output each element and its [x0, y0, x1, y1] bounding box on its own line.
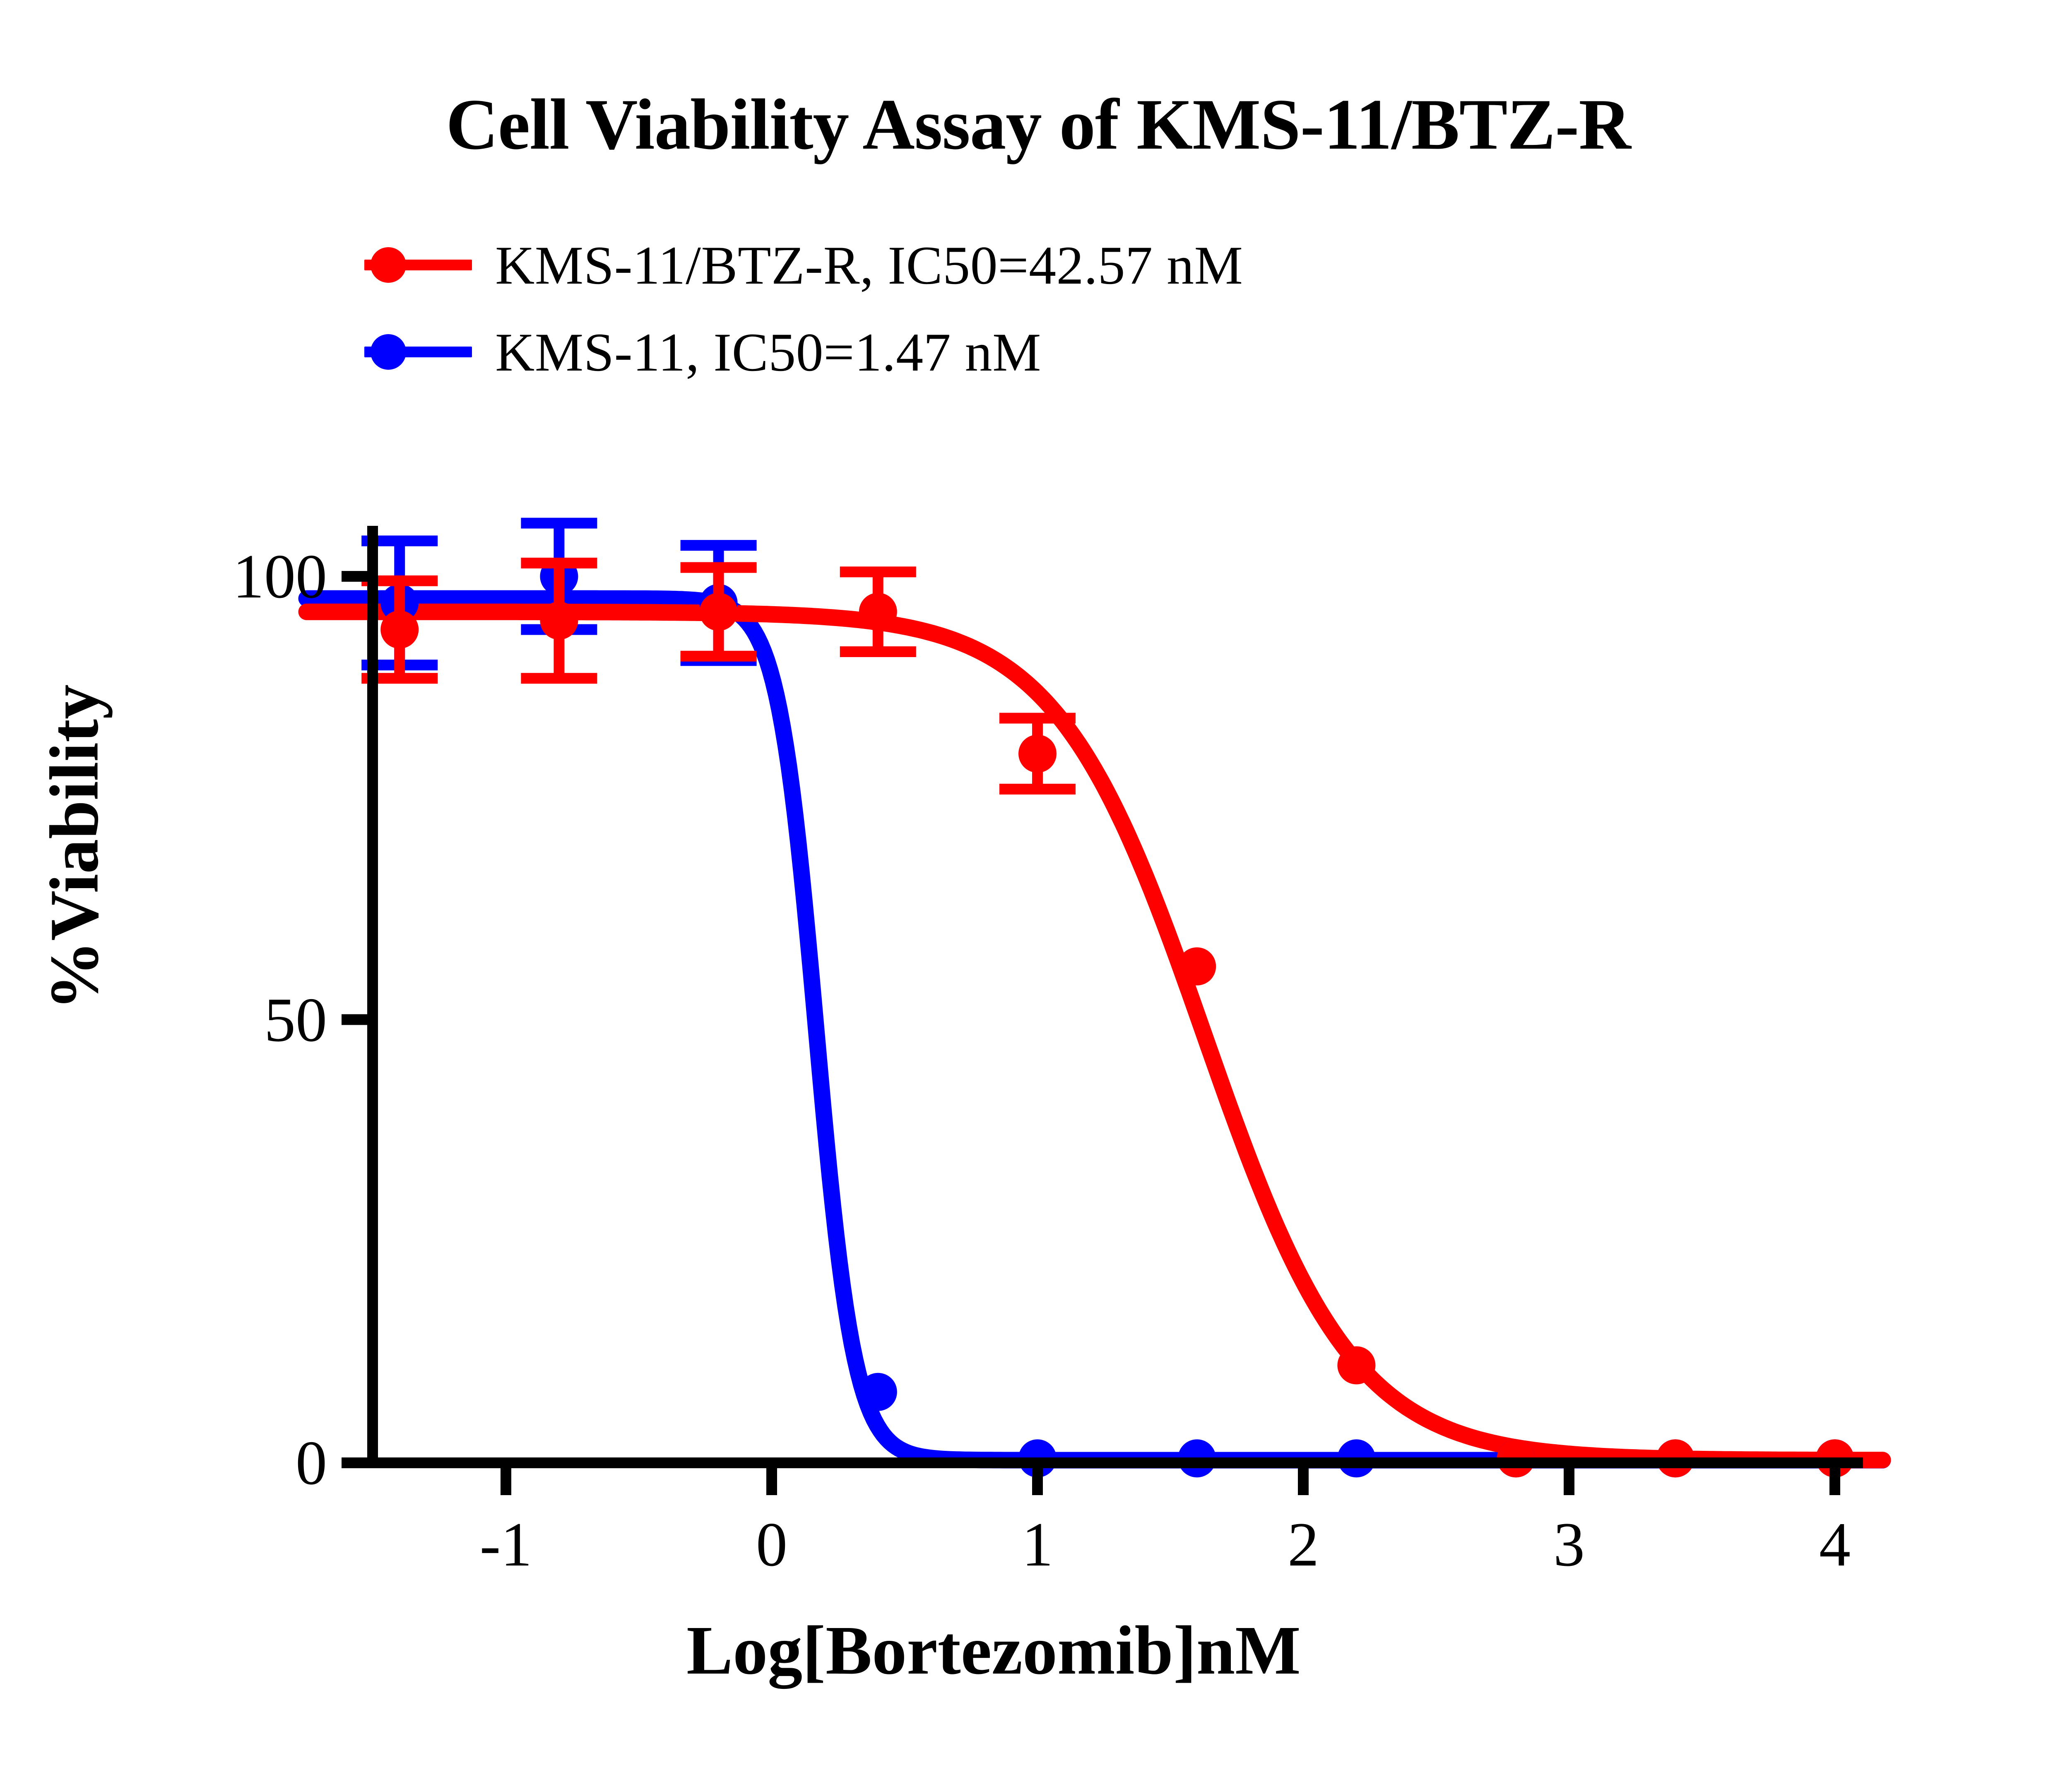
y-axis-title: %Viability [35, 558, 115, 1137]
data-point-marker [540, 602, 578, 640]
x-axis-title: Log[Bortezomib]nM [290, 1611, 1697, 1691]
x-tick-label: 0 [756, 1508, 787, 1580]
y-tick-label: 50 [264, 984, 327, 1056]
data-point-marker [1178, 947, 1216, 985]
y-tick-label: 100 [233, 540, 327, 612]
x-tick-label: 4 [1819, 1508, 1851, 1580]
series-points [361, 563, 1854, 1477]
x-tick-label: -1 [480, 1508, 532, 1580]
chart-figure: Cell Viability Assay of KMS-11/BTZ-R KMS… [0, 0, 2070, 1792]
x-tick-label: 2 [1288, 1508, 1319, 1580]
series-curve [307, 599, 1883, 1460]
series-points [361, 523, 1854, 1478]
data-point-marker [1337, 1346, 1375, 1384]
data-point-marker [859, 593, 897, 631]
data-point-marker [859, 1373, 897, 1411]
data-point-marker [1018, 735, 1057, 773]
plot-area: %Viability Log[Bortezomib]nM 050100 -101… [0, 0, 2070, 1792]
series-curve [307, 612, 1883, 1460]
x-tick-label: 3 [1553, 1508, 1585, 1580]
x-tick-label: 1 [1022, 1508, 1053, 1580]
data-point-marker [700, 593, 738, 631]
y-tick-label: 0 [296, 1427, 327, 1499]
data-point-marker [380, 610, 419, 648]
